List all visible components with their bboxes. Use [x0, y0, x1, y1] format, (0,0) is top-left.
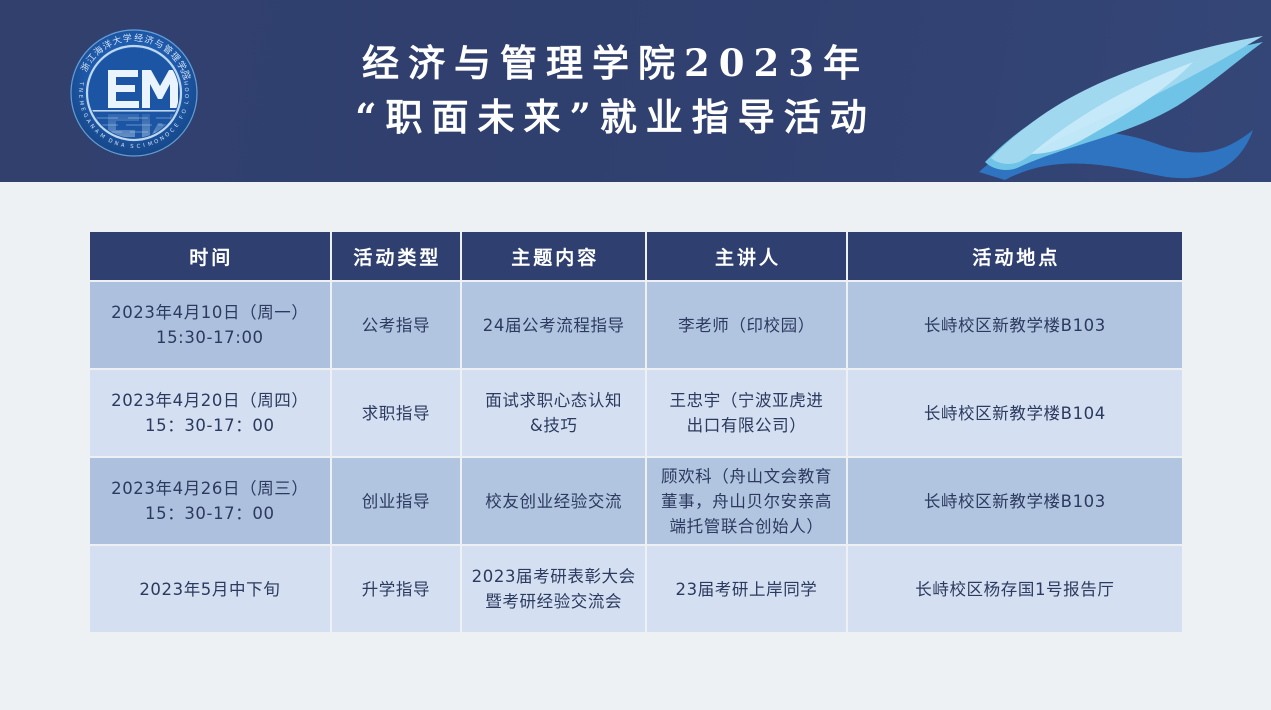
cell-place: 长峙校区新教学楼B103: [848, 458, 1182, 544]
speaker-line: 23届考研上岸同学: [653, 577, 839, 602]
topic-line: 2023届考研表彰大会: [468, 564, 639, 589]
svg-text:C: C: [136, 144, 141, 150]
cell-time: 2023年4月20日（周四） 15：30-17：00: [90, 370, 330, 456]
cell-place: 长峙校区新教学楼B104: [848, 370, 1182, 456]
speaker-line: 李老师（印校园）: [653, 313, 839, 338]
wave-mark-icon: [971, 12, 1271, 182]
column-header-place: 活动地点: [848, 232, 1182, 280]
cell-type: 创业指导: [332, 458, 461, 544]
time-date: 2023年4月26日（周三）: [96, 476, 324, 501]
activity-schedule-table: 时间 活动类型 主题内容 主讲人 活动地点 2023年4月10日（周一） 15:…: [88, 230, 1184, 634]
cell-type: 求职指导: [332, 370, 461, 456]
cell-topic: 校友创业经验交流: [462, 458, 645, 544]
speaker-line: 端托管联合创始人）: [653, 514, 839, 539]
column-header-topic: 主题内容: [462, 232, 645, 280]
cell-time: 2023年5月中下旬: [90, 546, 330, 632]
cell-speaker: 李老师（印校园）: [647, 282, 845, 368]
svg-text:N: N: [77, 88, 83, 93]
cell-speaker: 王忠宇（宁波亚虎进 出口有限公司）: [647, 370, 845, 456]
time-date: 2023年4月10日（周一）: [96, 300, 324, 325]
cell-speaker: 23届考研上岸同学: [647, 546, 845, 632]
column-header-type: 活动类型: [332, 232, 461, 280]
cell-type: 升学指导: [332, 546, 461, 632]
time-range: 15：30-17：00: [96, 501, 324, 526]
table-row: 2023年4月10日（周一） 15:30-17:00 公考指导 24届公考流程指…: [90, 282, 1182, 368]
cell-speaker: 顾欢科（舟山文会教育 董事，舟山贝尔安亲高 端托管联合创始人）: [647, 458, 845, 544]
wave-decoration: [971, 12, 1271, 182]
cell-topic: 面试求职心态认知 &技巧: [462, 370, 645, 456]
table-row: 2023年4月26日（周三） 15：30-17：00 创业指导 校友创业经验交流…: [90, 458, 1182, 544]
school-seal-icon: 浙 江 海 洋 大 学 经 济 与 管 理 学 院 S C: [62, 26, 206, 160]
cell-place: 长峙校区新教学楼B103: [848, 282, 1182, 368]
cell-place: 长峙校区杨存国1号报告厅: [848, 546, 1182, 632]
cell-time: 2023年4月26日（周三） 15：30-17：00: [90, 458, 330, 544]
column-header-time: 时间: [90, 232, 330, 280]
svg-text:S: S: [130, 144, 134, 150]
topic-line: 暨考研经验交流会: [468, 589, 639, 614]
speaker-line: 董事，舟山贝尔安亲高: [653, 489, 839, 514]
cell-time: 2023年4月10日（周一） 15:30-17:00: [90, 282, 330, 368]
banner-title-line2: “职面未来”就业指导活动: [246, 90, 976, 144]
table-row: 2023年5月中下旬 升学指导 2023届考研表彰大会 暨考研经验交流会 23届…: [90, 546, 1182, 632]
svg-text:O: O: [185, 87, 191, 92]
svg-text:学: 学: [122, 32, 132, 45]
time-date: 2023年4月20日（周四）: [96, 388, 324, 413]
page-banner: 浙 江 海 洋 大 学 经 济 与 管 理 学 院 S C: [0, 0, 1271, 182]
banner-title: 经济与管理学院2023年 “职面未来”就业指导活动: [246, 36, 976, 144]
banner-title-line1: 经济与管理学院2023年: [246, 36, 976, 90]
topic-line: 校友创业经验交流: [468, 489, 639, 514]
speaker-line: 顾欢科（舟山文会教育: [653, 464, 839, 489]
svg-text:O: O: [185, 93, 191, 98]
topic-line: 面试求职心态认知: [468, 388, 639, 413]
cell-topic: 24届公考流程指导: [462, 282, 645, 368]
speaker-line: 王忠宇（宁波亚虎进: [653, 388, 839, 413]
topic-line: 24届公考流程指导: [468, 313, 639, 338]
time-date: 2023年5月中下旬: [96, 577, 324, 602]
time-range: 15：30-17：00: [96, 413, 324, 438]
speaker-line: 出口有限公司）: [653, 413, 839, 438]
column-header-speaker: 主讲人: [647, 232, 845, 280]
table-row: 2023年4月20日（周四） 15：30-17：00 求职指导 面试求职心态认知…: [90, 370, 1182, 456]
svg-text:经: 经: [134, 32, 144, 45]
cell-topic: 2023届考研表彰大会 暨考研经验交流会: [462, 546, 645, 632]
svg-text:E: E: [77, 95, 83, 99]
cell-type: 公考指导: [332, 282, 461, 368]
school-seal-logo: 浙 江 海 洋 大 学 经 济 与 管 理 学 院 S C: [62, 26, 206, 160]
time-range: 15:30-17:00: [96, 325, 324, 350]
table-header-row: 时间 活动类型 主题内容 主讲人 活动地点: [90, 232, 1182, 280]
topic-line: &技巧: [468, 413, 639, 438]
schedule-sheet: 时间 活动类型 主题内容 主讲人 活动地点 2023年4月10日（周一） 15:…: [0, 182, 1271, 710]
